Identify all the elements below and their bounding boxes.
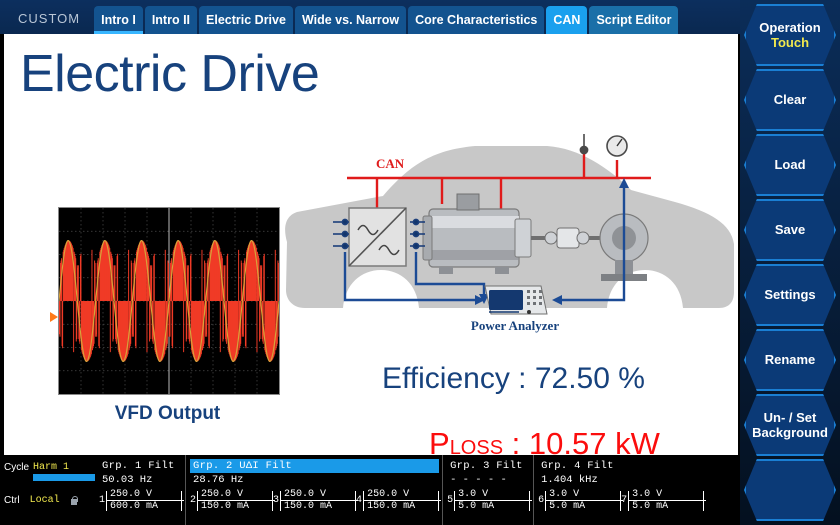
- softkey-label: Rename: [765, 352, 816, 367]
- channel-entry[interactable]: 53.0 V5.0 mA: [447, 489, 530, 512]
- inverter-icon: [349, 208, 406, 266]
- application-window: CUSTOM Intro IIntro IIElectric DriveWide…: [0, 0, 840, 525]
- channel-current: 600.0 mA: [106, 501, 182, 512]
- channel-entry[interactable]: 2250.0 V150.0 mA: [190, 489, 273, 512]
- channel-range-box: 250.0 V150.0 mA: [280, 489, 356, 512]
- softkey-label: Operation: [759, 20, 820, 35]
- softkey-label: Clear: [774, 92, 807, 107]
- channel-current: 150.0 mA: [197, 501, 273, 512]
- waveform-plot-area: [58, 207, 280, 395]
- channel-entry[interactable]: 63.0 V5.0 mA: [538, 489, 621, 512]
- measurement-group[interactable]: Grp. 4 Filt1.404 kHz63.0 V5.0 mA73.0 V5.…: [533, 455, 707, 525]
- channel-number: 1: [99, 495, 105, 506]
- custom-label: CUSTOM: [18, 11, 94, 34]
- channel-number: 6: [538, 495, 544, 506]
- channel-range-box: 3.0 V5.0 mA: [454, 489, 530, 512]
- cycle-value[interactable]: Harm 1: [33, 462, 69, 473]
- softkey-sublabel: Touch: [771, 35, 809, 50]
- measurement-group[interactable]: Grp. 2 UΔI Filt28.76 Hz2250.0 V150.0 mA3…: [185, 455, 442, 525]
- tab-electric-drive[interactable]: Electric Drive: [199, 6, 293, 34]
- channel-entry[interactable]: 4250.0 V150.0 mA: [356, 489, 439, 512]
- channel-current: 5.0 mA: [545, 501, 621, 512]
- group-frequency: - - - - -: [447, 473, 530, 487]
- group-header: Grp. 1 Filt: [99, 459, 182, 473]
- channel-range-box: 250.0 V150.0 mA: [363, 489, 439, 512]
- ctrl-label: Ctrl: [4, 495, 20, 506]
- channel-entry[interactable]: 1250.0 V600.0 mA: [99, 489, 182, 512]
- status-bar: Cycle Harm 1 Ctrl Local Grp. 1 Filt50.03…: [0, 455, 740, 525]
- can-bus-label: CAN: [376, 156, 405, 171]
- channel-number: 5: [447, 495, 453, 506]
- cycle-label: Cycle: [4, 462, 29, 473]
- gauge-icon: [607, 136, 627, 156]
- tab-bar: CUSTOM Intro IIntro IIElectric DriveWide…: [0, 0, 740, 34]
- group-frequency: 50.03 Hz: [99, 473, 182, 487]
- trigger-marker-icon: [50, 312, 58, 322]
- efficiency-readout: Efficiency : 72.50 %: [382, 362, 645, 396]
- measurement-groups: Grp. 1 Filt50.03 Hz1250.0 V600.0 mAGrp. …: [95, 455, 707, 525]
- lock-icon[interactable]: [70, 495, 79, 506]
- waveform-svg: [59, 208, 279, 394]
- tab-intro-i[interactable]: Intro I: [94, 6, 143, 34]
- page-title: Electric Drive: [20, 48, 319, 100]
- softkey-label: Settings: [764, 287, 815, 302]
- softkey-settings[interactable]: Settings: [744, 264, 836, 326]
- channel-entry[interactable]: 3250.0 V150.0 mA: [273, 489, 356, 512]
- softkey-save[interactable]: Save: [744, 199, 836, 261]
- channel-range-box: 250.0 V150.0 mA: [197, 489, 273, 512]
- softkey-rename[interactable]: Rename: [744, 329, 836, 391]
- group-frequency: 28.76 Hz: [190, 473, 439, 487]
- tab-intro-ii[interactable]: Intro II: [145, 6, 197, 34]
- power-analyzer-label: Power Analyzer: [471, 318, 559, 333]
- channel-voltage: 3.0 V: [454, 489, 530, 500]
- power-loss-readout: PLOSS : 10.57 kW: [429, 426, 660, 455]
- channel-voltage: 250.0 V: [106, 489, 182, 500]
- softkey-label: Load: [774, 157, 805, 172]
- tab-can[interactable]: CAN: [546, 6, 587, 34]
- softkey-load[interactable]: Load: [744, 134, 836, 196]
- channel-current: 150.0 mA: [363, 501, 439, 512]
- softkey-label: Save: [775, 222, 805, 237]
- channel-voltage: 250.0 V: [197, 489, 273, 500]
- power-analyzer-icon: [485, 286, 547, 314]
- channel-range-box: 250.0 V600.0 mA: [106, 489, 182, 512]
- channel-voltage: 250.0 V: [363, 489, 439, 500]
- tab-core-characteristics[interactable]: Core Characteristics: [408, 6, 544, 34]
- softkey-clear[interactable]: Clear: [744, 69, 836, 131]
- waveform-x-axis-label: VFD Output: [50, 403, 285, 425]
- channel-current: 5.0 mA: [454, 501, 530, 512]
- car-schematic-diagram: CAN: [279, 124, 738, 344]
- channel-range-box: 3.0 V5.0 mA: [545, 489, 621, 512]
- channel-current: 150.0 mA: [280, 501, 356, 512]
- channel-voltage: 3.0 V: [545, 489, 621, 500]
- measurement-group[interactable]: Grp. 3 Filt- - - - -53.0 V5.0 mA: [442, 455, 533, 525]
- control-status-block: Cycle Harm 1 Ctrl Local: [0, 455, 95, 525]
- tab-wide-vs-narrow[interactable]: Wide vs. Narrow: [295, 6, 406, 34]
- group-frequency: 1.404 kHz: [538, 473, 704, 487]
- cycle-bar: [33, 474, 95, 481]
- sensor-icon: [580, 134, 587, 154]
- waveform-chart: Voltage V VFD Output: [50, 207, 285, 432]
- main-canvas: Electric Drive CAN: [4, 34, 738, 455]
- channel-entry[interactable]: 73.0 V5.0 mA: [621, 489, 704, 512]
- channel-range-box: 3.0 V5.0 mA: [628, 489, 704, 512]
- channel-voltage: 3.0 V: [628, 489, 704, 500]
- softkey-un-set-background[interactable]: Un- / Set Background: [744, 394, 836, 456]
- ctrl-value[interactable]: Local: [30, 495, 60, 506]
- group-header: Grp. 2 UΔI Filt: [190, 459, 439, 473]
- channel-number: 2: [190, 495, 196, 506]
- softkey-operation[interactable]: OperationTouch: [744, 4, 836, 66]
- softkey-label: Un- / Set Background: [752, 410, 828, 441]
- tab-script-editor[interactable]: Script Editor: [589, 6, 678, 34]
- measurement-group[interactable]: Grp. 1 Filt50.03 Hz1250.0 V600.0 mA: [95, 455, 185, 525]
- group-header: Grp. 4 Filt: [538, 459, 704, 473]
- channel-current: 5.0 mA: [628, 501, 704, 512]
- ploss-value: : 10.57 kW: [503, 426, 660, 455]
- channel-voltage: 250.0 V: [280, 489, 356, 500]
- ploss-prefix: P: [429, 426, 450, 455]
- ploss-subscript: LOSS: [450, 437, 503, 455]
- group-header: Grp. 3 Filt: [447, 459, 530, 473]
- right-softkey-sidebar: OperationTouchClearLoadSaveSettingsRenam…: [740, 0, 840, 525]
- softkey-empty-7[interactable]: [744, 459, 836, 521]
